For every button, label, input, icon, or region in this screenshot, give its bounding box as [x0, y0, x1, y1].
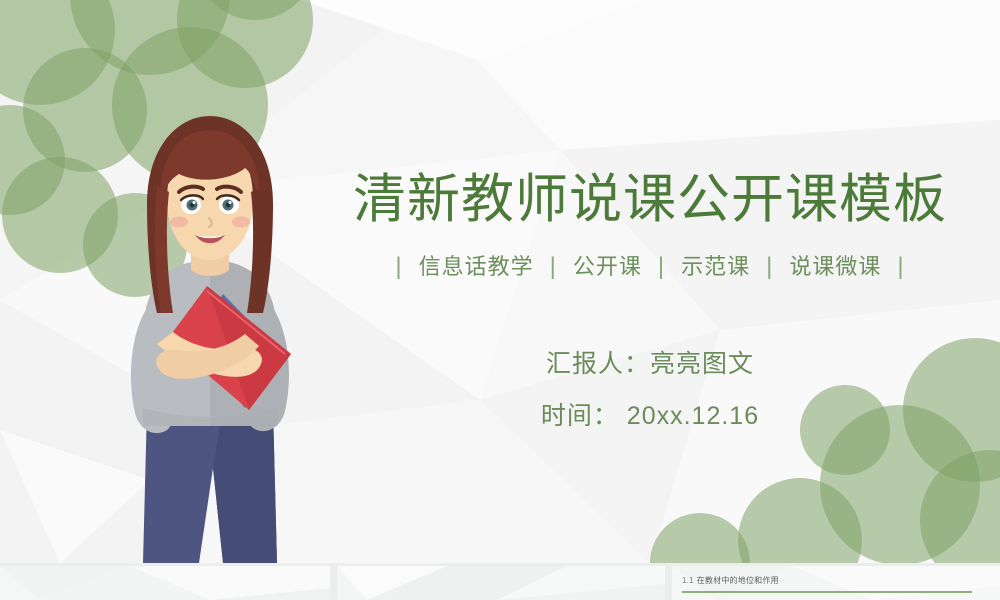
thumbnail-3-heading: 1.1在教材中的地位和作用: [682, 575, 779, 586]
thumbnail-2-background: [337, 566, 665, 600]
slide-thumbnail-3[interactable]: 1.1在教材中的地位和作用: [672, 566, 1000, 600]
teacher-illustration: [95, 108, 325, 563]
slide-thumbnail-2[interactable]: [337, 566, 665, 600]
subtitle-separator-0: |: [395, 250, 402, 284]
date-line: 时间： 20xx.12.16: [300, 390, 1000, 442]
thumbnail-3-accent-rule: [682, 591, 972, 593]
subtitle-item-0: 信息话教学: [403, 250, 550, 284]
thumbnail-1-background: [0, 566, 330, 600]
subtitle-separator-3: |: [766, 250, 773, 284]
page-title: 清新教师说课公开课模板: [300, 168, 1000, 232]
subtitle-separator-4: |: [897, 250, 904, 284]
slide-text-block: 清新教师说课公开课模板 | 信息话教学 | 公开课 | 示范课 | 说课微课 |…: [300, 168, 1000, 442]
title-slide[interactable]: 清新教师说课公开课模板 | 信息话教学 | 公开课 | 示范课 | 说课微课 |…: [0, 0, 1000, 563]
thumbnail-3-heading-text: 在教材中的地位和作用: [697, 576, 779, 585]
subtitle-item-2: 示范课: [665, 250, 766, 284]
subtitle-separator-1: |: [550, 250, 557, 284]
slide-thumbnail-strip: 1.1在教材中的地位和作用: [0, 563, 1000, 600]
subtitle-item-1: 公开课: [557, 250, 658, 284]
presenter-line: 汇报人：亮亮图文: [300, 338, 1000, 390]
slide-thumbnail-1[interactable]: [0, 566, 330, 600]
subtitle-separator-2: |: [658, 250, 665, 284]
subtitle-tag-list: | 信息话教学 | 公开课 | 示范课 | 说课微课 |: [300, 250, 1000, 284]
slide-canvas: 清新教师说课公开课模板 | 信息话教学 | 公开课 | 示范课 | 说课微课 |…: [0, 0, 1000, 600]
thumbnail-3-heading-number: 1.1: [682, 576, 694, 585]
presenter-meta: 汇报人：亮亮图文 时间： 20xx.12.16: [300, 338, 1000, 442]
subtitle-item-3: 说课微课: [773, 250, 897, 284]
